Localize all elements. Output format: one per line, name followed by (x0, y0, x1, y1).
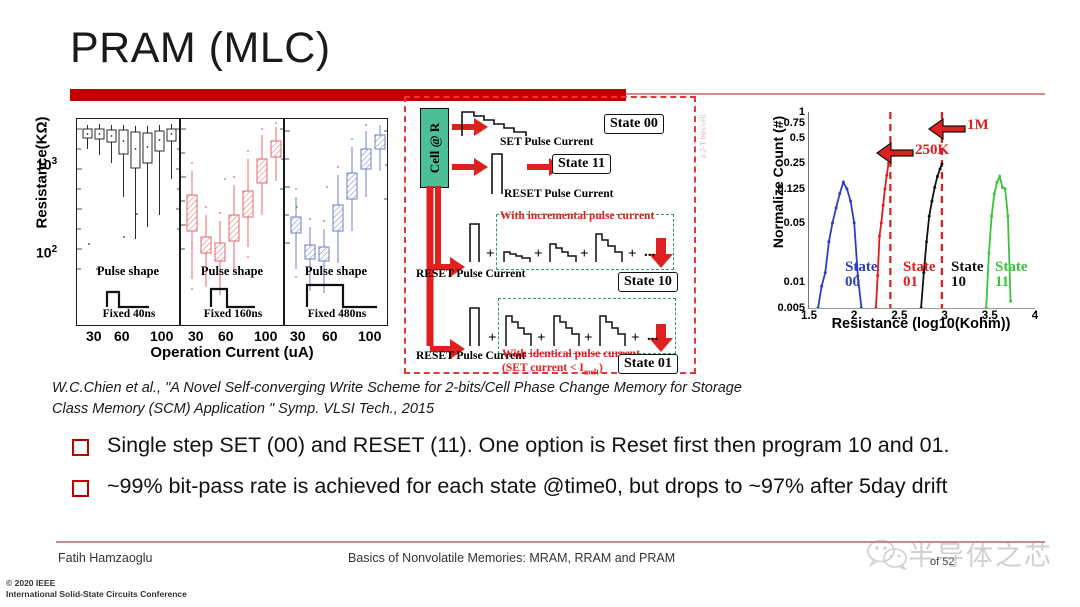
bullet-text-1: Single step SET (00) and RESET (11). One… (107, 432, 950, 459)
state-box-10: State 10 (618, 272, 678, 292)
panel-160ns-plot (181, 119, 284, 326)
page-title: PRAM (MLC) (70, 24, 331, 73)
left-x-tick-1: 60 (114, 328, 130, 344)
square-bullet-icon (72, 480, 89, 497)
watermark-text: 半导体之芯 (908, 534, 1053, 573)
panel-40ns-pulse-label: Pulse shape (81, 264, 175, 279)
state-label-11: State 11 (995, 260, 1028, 291)
state-label-11-line2: 11 (995, 275, 1028, 290)
melt-note-prefix: (SET current < I (502, 362, 584, 374)
left-x-tick-4: 60 (218, 328, 234, 344)
panel-480ns: Pulse shape Fixed 480ns (284, 118, 388, 326)
state-label-01: State 01 (903, 260, 936, 291)
plus-sign-row4: + (488, 330, 497, 347)
panel-160ns-pulse-label: Pulse shape (185, 264, 279, 279)
set-current-melt-note: (SET current < Imelt) (502, 362, 603, 376)
citation-line-2: Class Memory (SCM) Application " Symp. V… (52, 399, 1012, 420)
citation-line-1: W.C.Chien et al., "A Novel Self-convergi… (52, 378, 1012, 399)
reset-pulse-caption-1: RESET Pulse Current (504, 188, 613, 200)
melt-note-suffix: ) (599, 362, 603, 374)
state-label-10-line2: 10 (951, 275, 984, 290)
left-panel-group: Pulse shape Fixed 40ns (76, 118, 388, 326)
distribution-plot-area: 1 0.75 0.5 0.25 0.125 0.05 0.01 0.005 1.… (808, 112, 1035, 309)
copyright-line-2: International Solid-State Circuits Confe… (6, 589, 187, 600)
state-box-11: State 11 (552, 154, 611, 174)
state-box-00: State 00 (604, 114, 664, 134)
figure-resistance-distribution: Normalize Count (#) 1 0.75 0.5 0.25 0.12… (748, 104, 1048, 362)
panel-480ns-pulse-label: Pulse shape (289, 264, 383, 279)
melt-note-sub: melt (584, 367, 599, 376)
plus-sign-row3: + (486, 246, 495, 263)
figure-write-scheme: Cell @ R (404, 96, 696, 374)
bullet-list: Single step SET (00) and RESET (11). One… (72, 432, 1040, 514)
state-label-11-line1: State (995, 260, 1028, 275)
panel-160ns-fixed-label: Fixed 160ns (185, 308, 281, 320)
plus-sign-row4-c: + (584, 330, 593, 347)
plus-sign-row3-c: + (580, 246, 589, 263)
panel-40ns-fixed-label: Fixed 40ns (81, 308, 177, 320)
slide-root: PRAM (MLC) Resistance(KΩ) 103 102 (0, 0, 1080, 607)
square-bullet-icon (72, 439, 89, 456)
state-label-01-line1: State (903, 260, 936, 275)
state-label-00: State 00 (845, 260, 878, 291)
plus-sign-row4-d: + (631, 330, 640, 347)
y-tick-025: 0.25 (784, 157, 805, 169)
state-box-01: State 01 (618, 354, 678, 374)
plus-sign-row3-b: + (534, 246, 543, 263)
incremental-pulse-note: With incremental pulse current (500, 210, 654, 222)
left-x-axis-label: Operation Current (uA) (76, 344, 388, 361)
footer-author: Fatih Hamzaoglu (58, 551, 153, 565)
scheme-edge-watermark: a 2-T bits/cell (698, 114, 707, 158)
annotation-1m: 1M (967, 117, 989, 134)
left-x-tick-5: 100 (254, 328, 277, 344)
wechat-watermark: 半导体之芯 (866, 534, 1053, 573)
state-label-00-line2: 00 (845, 275, 878, 290)
left-x-tick-6: 30 (290, 328, 306, 344)
left-y-tick-1e3: 103 (36, 156, 57, 173)
left-x-tick-3: 30 (188, 328, 204, 344)
left-x-tick-8: 100 (358, 328, 381, 344)
ellipsis-row3: ... (644, 244, 655, 261)
panel-40ns: Pulse shape Fixed 40ns (76, 118, 180, 326)
set-pulse-caption: SET Pulse Current (500, 136, 594, 148)
reset-pulse-caption-2: RESET Pulse Current (416, 268, 525, 280)
panel-40ns-plot (77, 119, 180, 326)
copyright-line-1: © 2020 IEEE (6, 578, 187, 589)
bullet-text-2: ~99% bit-pass rate is achieved for each … (107, 473, 947, 500)
ellipsis-row4: ... (647, 328, 658, 345)
wechat-icon (866, 538, 908, 570)
state-label-10-line1: State (951, 260, 984, 275)
plus-sign-row4-b: + (537, 330, 546, 347)
right-x-axis-label: Resistance (log10(Kohm)) (808, 316, 1034, 332)
figure-boxplots: Resistance(KΩ) 103 102 (18, 104, 396, 362)
y-tick-05: 0.5 (790, 132, 805, 144)
y-tick-075: 0.75 (784, 117, 805, 129)
copyright-notice: © 2020 IEEE International Solid-State Ci… (6, 578, 187, 601)
left-x-tick-7: 60 (322, 328, 338, 344)
state-label-00-line1: State (845, 260, 878, 275)
panel-160ns: Pulse shape Fixed 160ns (180, 118, 284, 326)
y-tick-005: 0.05 (784, 217, 805, 229)
bullet-item-2: ~99% bit-pass rate is achieved for each … (72, 473, 1040, 500)
state-label-10: State 10 (951, 260, 984, 291)
annotation-250k: 250K (915, 142, 949, 159)
y-tick-001: 0.01 (784, 276, 805, 288)
state-label-01-line2: 01 (903, 275, 936, 290)
panel-480ns-fixed-label: Fixed 480ns (289, 308, 385, 320)
left-x-tick-0: 30 (86, 328, 102, 344)
citation: W.C.Chien et al., "A Novel Self-convergi… (52, 378, 1012, 419)
bullet-item-1: Single step SET (00) and RESET (11). One… (72, 432, 1040, 459)
left-x-tick-2: 100 (150, 328, 173, 344)
panel-480ns-plot (285, 119, 388, 326)
left-y-tick-1e2: 102 (36, 244, 57, 261)
title-rule-thin (626, 93, 1045, 95)
y-tick-0125: 0.125 (777, 183, 805, 195)
plus-sign-row3-d: + (628, 246, 637, 263)
footer-subtitle: Basics of Nonvolatile Memories: MRAM, RR… (348, 551, 675, 565)
